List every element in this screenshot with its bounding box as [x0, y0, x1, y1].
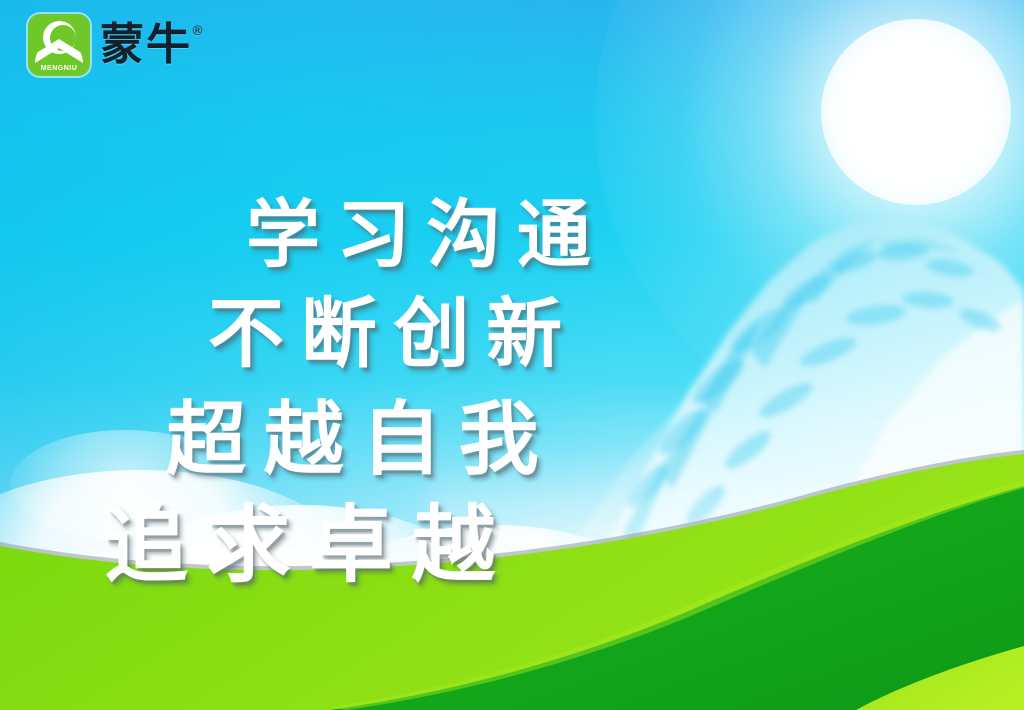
logo-chinese-text: 蒙牛 [100, 19, 192, 70]
registered-trademark-mark: ® [191, 25, 206, 38]
slogan-line-2: 不断创新 [208, 272, 579, 382]
brand-logo: MENGNIU 蒙牛 ® [28, 14, 206, 76]
mengniu-crescent-icon: MENGNIU [28, 14, 90, 76]
poster-canvas: MENGNIU 蒙牛 ® 学习沟通 不断创新 超越自我 追求卓越 [0, 0, 1024, 710]
slogan-line-3: 超越自我 [166, 375, 556, 491]
slogan-line-1: 学习沟通 [246, 175, 607, 282]
logo-chinese-name: 蒙牛 ® [100, 23, 206, 67]
logo-english-name: MENGNIU [28, 65, 90, 72]
slogan-line-4: 追求卓越 [104, 478, 514, 599]
